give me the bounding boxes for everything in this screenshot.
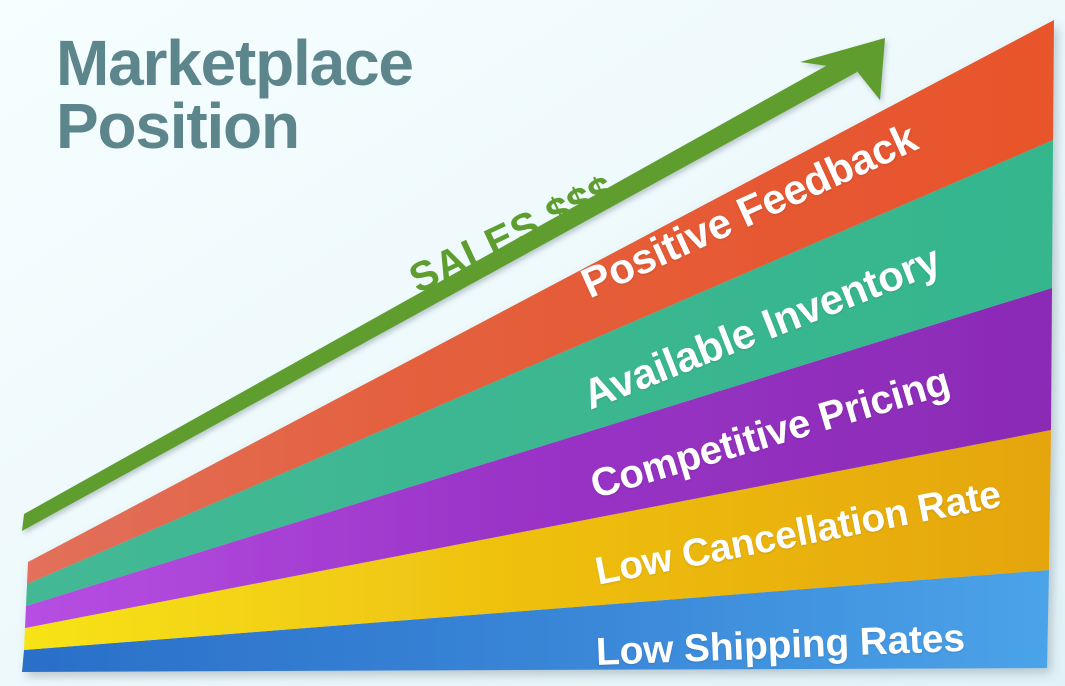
- infographic-canvas: Marketplace Position SALES $$$ Positive …: [0, 0, 1065, 686]
- page-title: Marketplace Position: [56, 32, 413, 157]
